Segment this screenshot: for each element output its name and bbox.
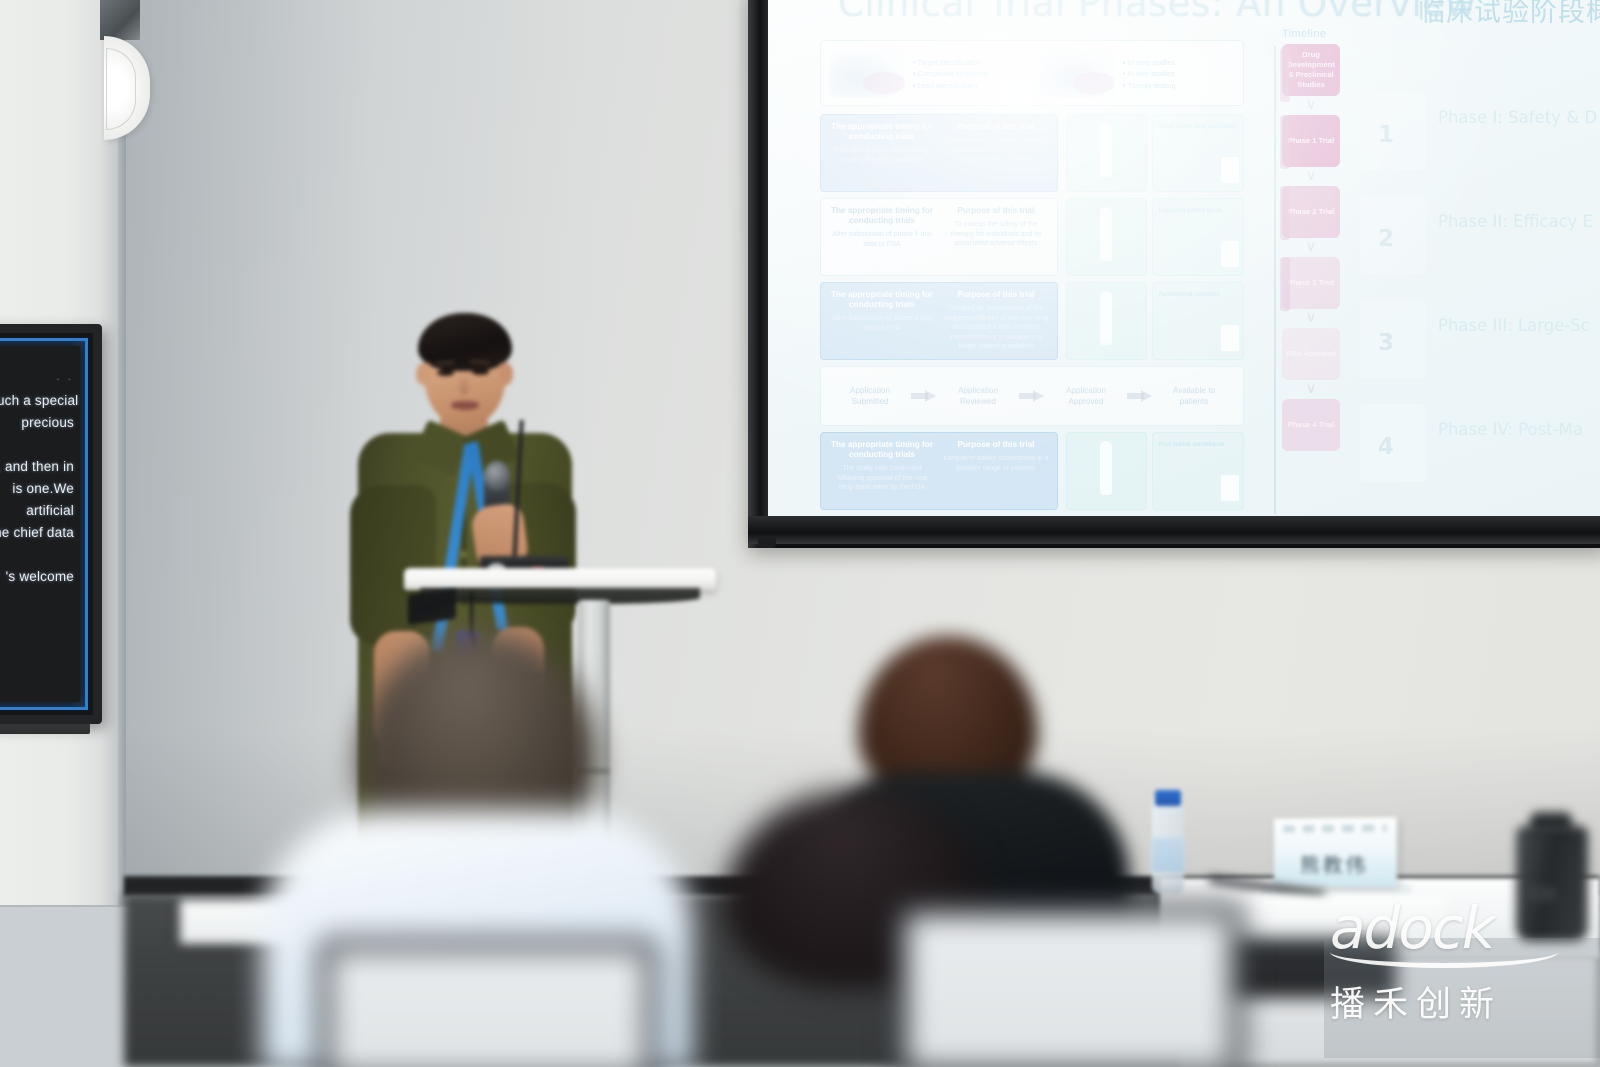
- timeline-label: Timeline: [1282, 28, 1344, 40]
- row-3-timing-head: The appropriate timing for conducting tr…: [829, 440, 935, 460]
- row-0-purpose-body: To determine the optimal dosage and eval…: [943, 136, 1049, 165]
- presenter-ear-right: [500, 363, 513, 385]
- monitor-spacer-1: [0, 434, 74, 456]
- name-card: 熊教伟: [1274, 817, 1397, 887]
- row-2-timing-body: After submission of phase 2 trial data t…: [829, 314, 935, 333]
- timeline-item-5: Phase 4 Trial: [1282, 399, 1344, 451]
- phase-number-4: 4: [1378, 434, 1394, 460]
- phase-content-rows: The appropriate timing for conducting tr…: [820, 114, 1244, 516]
- precl-bullet-r1: In vivo studies: [1123, 68, 1176, 80]
- row-0-figure-note-card: Small cohort dose escalation: [1152, 114, 1245, 192]
- row-0-figures: Small cohort dose escalation: [1066, 114, 1244, 192]
- row-2-figure-person-icon: [1066, 282, 1147, 360]
- name-card-subtext: [1283, 824, 1386, 832]
- timeline-marker: [1280, 257, 1290, 311]
- chevron-down-icon: ∨: [1282, 240, 1340, 253]
- lab-illustration-left: [829, 50, 905, 98]
- list-item: 3 Phase III: Large-Sc: [1364, 300, 1600, 378]
- arrow-right-icon: [1127, 390, 1153, 402]
- precl-bullet-r0: In vitro studies: [1123, 57, 1176, 69]
- presenter-mouth: [451, 401, 479, 410]
- precl-bullet-l0: Target identification: [913, 57, 988, 69]
- timeline-item-0: Drug Development & Preclinical Studies: [1282, 44, 1344, 96]
- timeline-item-1: Phase 1 Trial: [1282, 115, 1344, 167]
- fda-step-2: Application Approved: [1053, 385, 1119, 407]
- presenter-eye-right: [472, 369, 489, 375]
- precl-bullet-l2: Lead identification: [913, 80, 988, 92]
- mesh-chair-back: [318, 938, 658, 1067]
- row-1-figure-chip: [1221, 241, 1239, 267]
- precl-bullet-l1: Compound screening: [913, 68, 988, 80]
- row-2-figures: Randomized controlled: [1066, 282, 1244, 360]
- timeline-box-label: Drug Development & Preclinical Studies: [1282, 44, 1340, 96]
- row-3-figure-note-card: Post-market surveillance: [1152, 432, 1245, 510]
- watermark: adock 播禾创新: [1330, 898, 1594, 1060]
- preclinical-right-bullets: In vitro studies In vivo studies Toxicit…: [1123, 57, 1176, 92]
- timeline-item-2: Phase 2 Trial: [1282, 186, 1344, 238]
- phase-label-4: Phase IV: Post-Ma: [1438, 420, 1583, 439]
- presenter-ear-left: [416, 363, 430, 385]
- row-1-figure-note: Expanded patient group: [1159, 207, 1238, 215]
- wall-monitor[interactable]: - - such a special precious , and then i…: [0, 324, 102, 724]
- timeline-column: Timeline Drug Development & Preclinical …: [1268, 28, 1344, 451]
- list-item: 4 Phase IV: Post-Ma: [1364, 404, 1600, 482]
- fda-step-1: Application Reviewed: [945, 385, 1011, 407]
- audience-member-blue-shirt: [272, 620, 672, 1067]
- phase-label-3: Phase III: Large-Sc: [1438, 316, 1590, 335]
- ceiling-bracket: [100, 0, 140, 40]
- timeline-item-4: FDA Approval: [1282, 328, 1344, 380]
- row-3-purpose-head: Purpose of this trial: [943, 440, 1049, 450]
- watermark-brand: adock: [1330, 898, 1594, 958]
- name-card-text: 熊教伟: [1300, 849, 1368, 878]
- monitor-screen: - - such a special precious , and then i…: [0, 346, 80, 702]
- row-0-timing-head: The appropriate timing for conducting tr…: [829, 122, 935, 142]
- preclinical-band: Target identification Compound screening…: [820, 40, 1244, 106]
- row-1-purpose-head: Purpose of this trial: [943, 206, 1049, 216]
- row-2-purpose-body: Conduct an assessment of the long-term e…: [943, 304, 1049, 352]
- table-row: The appropriate timing for conducting tr…: [820, 282, 1244, 360]
- row-2-figure-chip: [1221, 325, 1239, 351]
- audience-member-foreground: [664, 790, 1054, 1067]
- watermark-brand-chinese: 播禾创新: [1330, 976, 1594, 1027]
- fda-approval-flow: Application Submitted Application Review…: [820, 366, 1244, 426]
- phase-label-2: Phase II: Efficacy E: [1438, 212, 1593, 231]
- phase-number-2: 2: [1378, 226, 1394, 252]
- presenter-eye-left: [437, 370, 454, 376]
- list-item: 2 Phase II: Efficacy E: [1364, 196, 1600, 274]
- fda-step-0: Application Submitted: [837, 385, 903, 407]
- row-1-figures: Expanded patient group: [1066, 198, 1244, 276]
- timeline-box-label: Phase 1 Trial: [1282, 115, 1340, 167]
- table-row: The appropriate timing for conducting tr…: [820, 198, 1244, 276]
- row-0-text-cell: The appropriate timing for conducting tr…: [820, 114, 1058, 192]
- monitor-line-6: he chief data: [0, 522, 74, 544]
- row-1-text-cell: The appropriate timing for conducting tr…: [820, 198, 1058, 276]
- preclinical-left-bullets: Target identification Compound screening…: [913, 57, 988, 92]
- tumbler-lid: [1530, 812, 1572, 832]
- phase-number-1: 1: [1378, 122, 1394, 148]
- monitor-line-3: , and then in: [0, 456, 74, 478]
- row-0-figure-person-icon: [1066, 114, 1147, 192]
- chevron-down-icon: ∨: [1282, 311, 1340, 324]
- timeline-rail: [1274, 46, 1276, 514]
- phase-label-1: Phase I: Safety & D: [1438, 108, 1597, 127]
- row-3-text-cell: The appropriate timing for conducting tr…: [820, 432, 1058, 510]
- timeline-box-label: Phase 2 Trial: [1282, 186, 1340, 238]
- row-3-timing-body: The study was conducted following approv…: [829, 464, 935, 493]
- timeline-marker: [1280, 186, 1290, 240]
- timeline-box-label: FDA Approval: [1282, 328, 1340, 380]
- water-bottle-cap: [1155, 790, 1181, 806]
- presenter-hair: [418, 313, 512, 371]
- projected-slide: Clinical Trial Phases: An Overview 临床试验阶…: [768, 0, 1600, 516]
- row-1-figure-person-icon: [1066, 198, 1147, 276]
- mesh-chair-back: [894, 902, 1244, 1067]
- fda-step-3: Available to patients: [1161, 385, 1227, 407]
- row-1-figure-note-card: Expanded patient group: [1152, 198, 1245, 276]
- monitor-line-8: 's welcome: [0, 566, 74, 588]
- monitor-line-5: artificial: [0, 500, 74, 522]
- monitor-line-1: precious: [0, 412, 74, 434]
- row-2-figure-note-card: Randomized controlled: [1152, 282, 1245, 360]
- phase-summary-list: 1 Phase I: Safety & D 2 Phase II: Effica…: [1364, 92, 1600, 508]
- shirt-button: [460, 551, 467, 558]
- row-3-figure-chip: [1221, 475, 1239, 501]
- row-0-purpose-head: Purpose of this trial: [943, 122, 1049, 132]
- podium-surface: [404, 568, 716, 590]
- row-2-text-cell: The appropriate timing for conducting tr…: [820, 282, 1058, 360]
- timeline-item-3: Phase 3 Trial: [1282, 257, 1344, 309]
- row-0-figure-note: Small cohort dose escalation: [1159, 123, 1238, 131]
- chevron-down-icon: ∨: [1282, 382, 1340, 395]
- precl-bullet-r2: Toxicity testing: [1123, 80, 1176, 92]
- timeline-box-label: Phase 4 Trial: [1282, 399, 1340, 451]
- list-item: 1 Phase I: Safety & D: [1364, 92, 1600, 170]
- microphone-head-icon: [484, 461, 510, 491]
- row-2-timing-head: The appropriate timing for conducting tr…: [829, 290, 935, 310]
- monitor-line-4: is one.We: [0, 478, 74, 500]
- row-1-timing-body: After submission of phase 1 trial data t…: [829, 230, 935, 249]
- phase-number-3: 3: [1378, 330, 1394, 356]
- water-bottle-label: [1152, 838, 1184, 872]
- monitor-text-faint: - -: [0, 368, 74, 390]
- row-3-figure-note: Post-market surveillance: [1159, 441, 1238, 449]
- monitor-line-0: such a special: [0, 390, 74, 412]
- timeline-marker: [1280, 48, 1290, 102]
- projection-screen-frame-left: [748, 0, 770, 548]
- row-3-purpose-body: Long-term safety assessment in a broader…: [943, 454, 1049, 473]
- row-0-timing-body: First clinical study is conducted once i…: [829, 146, 935, 165]
- row-1-purpose-body: To assess the safety of the therapy for …: [943, 220, 1049, 249]
- row-0-figure-chip: [1221, 157, 1239, 183]
- podium-underside: [420, 588, 700, 604]
- projection-screen-frame-bottom: [748, 516, 1600, 544]
- presenter-nose: [459, 377, 469, 395]
- row-3-figure-person-icon: [1066, 432, 1147, 510]
- row-3-figures: Post-market surveillance: [1066, 432, 1244, 510]
- slide-title: Clinical Trial Phases: An Overview: [838, 0, 1476, 25]
- arrow-right-icon: [911, 390, 937, 402]
- timeline-marker: [1280, 115, 1290, 169]
- monitor-spacer-2: [0, 544, 74, 566]
- row-2-figure-note: Randomized controlled: [1159, 291, 1238, 299]
- monitor-bezel-glow: - - such a special precious , and then i…: [0, 338, 88, 710]
- chevron-down-icon: ∨: [1282, 169, 1340, 182]
- timeline-box-label: Phase 3 Trial: [1282, 257, 1340, 309]
- row-2-purpose-head: Purpose of this trial: [943, 290, 1049, 300]
- row-1-timing-head: The appropriate timing for conducting tr…: [829, 206, 935, 226]
- table-row: The appropriate timing for conducting tr…: [820, 432, 1244, 510]
- presentation-photo-scene: - - such a special precious , and then i…: [0, 0, 1600, 1067]
- arrow-right-icon: [1019, 390, 1045, 402]
- chevron-down-icon: ∨: [1282, 98, 1340, 111]
- lab-illustration-right: [1039, 50, 1115, 98]
- slide-title-chinese: 临床试验阶段概览: [1418, 0, 1600, 29]
- table-row: The appropriate timing for conducting tr…: [820, 114, 1244, 192]
